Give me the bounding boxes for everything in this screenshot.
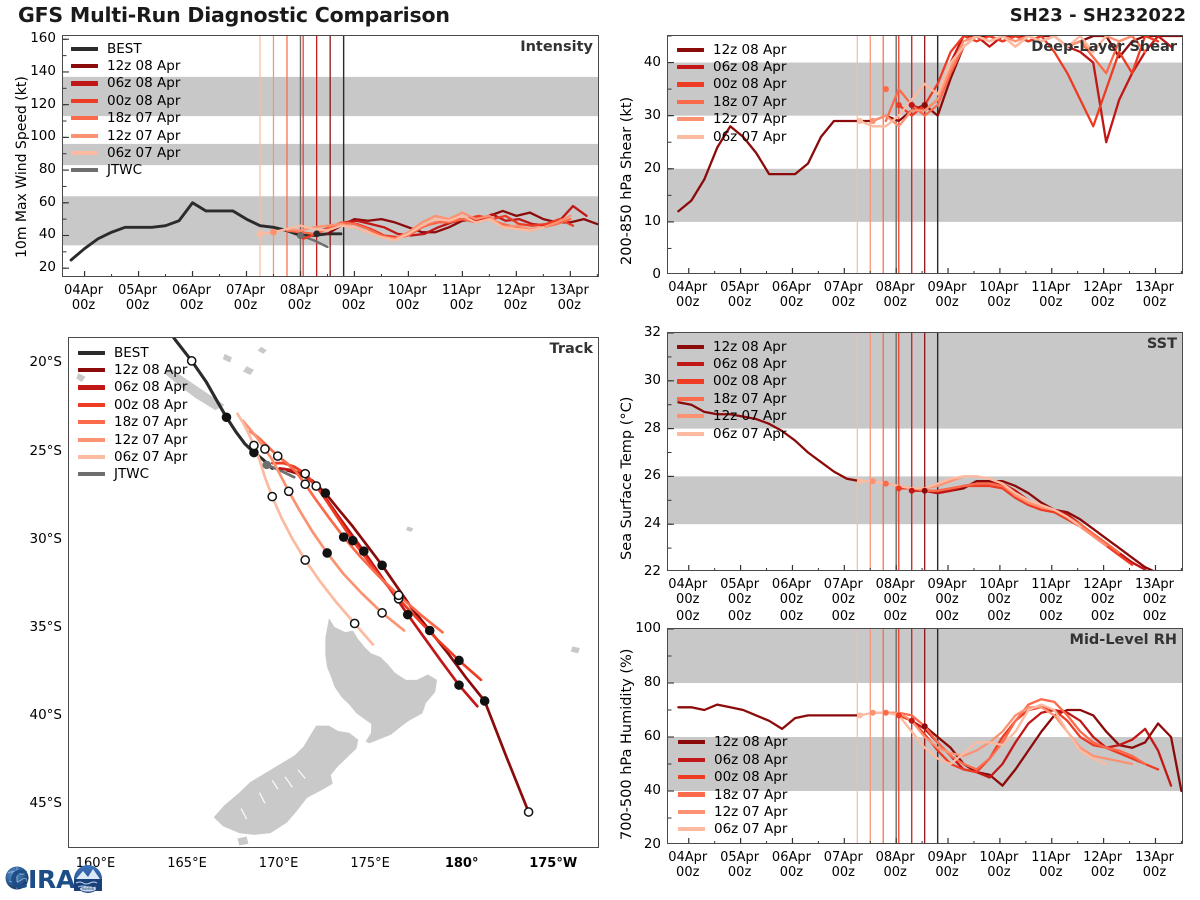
- legend-item[interactable]: 06z 07 Apr: [71, 144, 180, 161]
- legend-label: 00z 08 Apr: [107, 93, 180, 109]
- y-tick-label: 60: [621, 728, 661, 744]
- track-marker-open: [394, 591, 402, 599]
- legend-label: 06z 08 Apr: [107, 75, 180, 91]
- storm-id-title: SH23 - SH232022: [1010, 5, 1186, 26]
- track-marker-open: [351, 619, 359, 627]
- y-tick-label: 10: [621, 213, 661, 229]
- y-tick-label: 40: [621, 782, 661, 798]
- legend-label: 12z 08 Apr: [114, 362, 187, 378]
- legend-label: 12z 07 Apr: [713, 408, 786, 424]
- svg-text:A: A: [56, 865, 76, 894]
- y-tick-label: 20°S: [6, 354, 62, 370]
- data-point: [257, 230, 264, 237]
- legend-label: 06z 08 Apr: [714, 752, 787, 768]
- data-point: [883, 710, 889, 716]
- track-marker-open: [378, 609, 386, 617]
- x-tick-label-top: 00z: [1124, 609, 1184, 624]
- track-marker-filled: [403, 610, 412, 619]
- legend-swatch: [678, 827, 705, 831]
- track-marker-filled: [425, 626, 434, 635]
- x-tick-label: 13Apr00z: [1122, 850, 1186, 881]
- y-tick-label: 60: [16, 194, 56, 210]
- legend-label: BEST: [107, 41, 142, 57]
- y-tick-label: 35°S: [6, 619, 62, 635]
- legend-swatch: [677, 135, 704, 139]
- legend-swatch: [677, 65, 704, 69]
- legend-item[interactable]: 00z 08 Apr: [677, 373, 786, 390]
- legend-item[interactable]: 12z 08 Apr: [678, 734, 787, 751]
- y-tick-label: 140: [16, 63, 56, 79]
- y-tick-label: 100: [621, 620, 661, 636]
- legend-label: 12z 08 Apr: [107, 58, 180, 74]
- legend-swatch: [78, 438, 105, 442]
- legend-item[interactable]: 06z 08 Apr: [78, 379, 187, 396]
- track-marker-jtwc: [262, 461, 271, 470]
- svg-text:R: R: [37, 865, 56, 894]
- legend-label: 12z 08 Apr: [713, 339, 786, 355]
- legend-item[interactable]: BEST: [78, 344, 187, 361]
- y-tick-label: 28: [621, 420, 661, 436]
- legend-swatch: [677, 379, 704, 383]
- track-marker-open: [188, 357, 196, 365]
- legend-swatch: [677, 117, 704, 121]
- data-point: [313, 230, 320, 237]
- legend-label: 06z 08 Apr: [713, 356, 786, 372]
- legend-swatch: [677, 432, 704, 436]
- legend-swatch: [78, 403, 105, 407]
- panel-sst: SST 12z 08 Apr06z 08 Apr00z 08 Apr18z 07…: [667, 332, 1183, 571]
- legend-label: 18z 07 Apr: [713, 391, 786, 407]
- legend-swatch: [677, 48, 704, 52]
- data-point: [857, 712, 863, 718]
- y-tick-label: 30: [621, 372, 661, 388]
- intensity-legend: BEST12z 08 Apr06z 08 Apr00z 08 Apr18z 07…: [71, 40, 180, 179]
- legend-label: 12z 07 Apr: [714, 804, 787, 820]
- shear-panel-label: Deep-Layer Shear: [1031, 39, 1177, 55]
- track-marker-filled: [321, 489, 330, 498]
- legend-item[interactable]: 12z 07 Apr: [78, 431, 187, 448]
- panel-shear: Deep-Layer Shear 12z 08 Apr06z 08 Apr00z…: [667, 35, 1183, 274]
- legend-item[interactable]: 12z 08 Apr: [71, 57, 180, 74]
- track-marker-open: [301, 470, 309, 478]
- data-point: [896, 102, 902, 108]
- y-tick-label: 40: [16, 226, 56, 242]
- intensity-panel-label: Intensity: [520, 39, 593, 55]
- track-marker-open: [250, 441, 258, 449]
- y-tick-label: 80: [621, 674, 661, 690]
- track-marker-open: [285, 487, 293, 495]
- data-point: [922, 102, 928, 108]
- legend-swatch: [71, 81, 98, 85]
- legend-swatch: [71, 47, 98, 51]
- legend-label: 06z 07 Apr: [713, 426, 786, 442]
- landmass: [214, 726, 359, 835]
- legend-swatch: [78, 420, 105, 424]
- legend-label: 06z 08 Apr: [713, 59, 786, 75]
- track-marker-filled: [455, 681, 464, 690]
- legend-item[interactable]: 06z 08 Apr: [677, 58, 786, 75]
- track-legend: BEST12z 08 Apr06z 08 Apr00z 08 Apr18z 07…: [78, 344, 187, 483]
- data-point: [857, 118, 863, 124]
- legend-swatch: [677, 414, 704, 418]
- legend-item[interactable]: 12z 08 Apr: [677, 41, 786, 58]
- track-marker-open: [524, 808, 532, 816]
- y-tick-label: 25°S: [6, 443, 62, 459]
- landmass: [325, 618, 437, 743]
- legend-item[interactable]: BEST: [71, 40, 180, 57]
- y-tick-label: 40: [621, 54, 661, 70]
- y-tick-label: 20: [16, 259, 56, 275]
- y-tick-label: 80: [16, 161, 56, 177]
- legend-swatch: [677, 362, 704, 366]
- legend-item[interactable]: 06z 08 Apr: [71, 75, 180, 92]
- landmass: [237, 837, 248, 846]
- y-tick-label: 160: [16, 30, 56, 46]
- track-marker-filled: [349, 536, 358, 545]
- legend-swatch: [78, 472, 105, 476]
- y-tick-label: 20: [621, 160, 661, 176]
- cira-logo: C I R A RAMMB: [4, 858, 108, 898]
- data-point: [297, 232, 304, 239]
- x-tick-label: 13Apr00z: [537, 283, 601, 314]
- legend-item[interactable]: 00z 08 Apr: [678, 768, 787, 785]
- legend-item[interactable]: 12z 08 Apr: [677, 338, 786, 355]
- legend-item[interactable]: 12z 07 Apr: [678, 803, 787, 820]
- shaded-band: [63, 196, 599, 245]
- legend-label: JTWC: [107, 162, 142, 178]
- landmass: [223, 354, 232, 363]
- legend-label: 12z 07 Apr: [713, 111, 786, 127]
- sst-legend: 12z 08 Apr06z 08 Apr00z 08 Apr18z 07 Apr…: [677, 338, 786, 442]
- legend-label: 06z 07 Apr: [713, 129, 786, 145]
- sst-panel-label: SST: [1147, 336, 1177, 352]
- legend-item[interactable]: 12z 07 Apr: [677, 111, 786, 128]
- track-marker-filled: [480, 697, 489, 706]
- landmass: [258, 347, 267, 354]
- legend-label: 06z 07 Apr: [114, 449, 187, 465]
- legend-label: 12z 07 Apr: [107, 128, 180, 144]
- x-tick-label: 165°E: [151, 856, 223, 871]
- shaded-band: [668, 476, 1183, 524]
- y-tick-label: 120: [16, 96, 56, 112]
- data-point: [896, 712, 902, 718]
- track-marker-filled: [323, 549, 332, 558]
- legend-label: 00z 08 Apr: [114, 397, 187, 413]
- legend-item[interactable]: 12z 07 Apr: [677, 408, 786, 425]
- landmass: [406, 527, 413, 532]
- legend-swatch: [71, 168, 98, 172]
- track-marker-open: [301, 556, 309, 564]
- legend-label: 00z 08 Apr: [713, 76, 786, 92]
- legend-swatch: [78, 351, 105, 355]
- track-marker-open: [268, 492, 276, 500]
- track-marker-filled: [455, 656, 464, 665]
- legend-item[interactable]: 18z 07 Apr: [78, 414, 187, 431]
- svg-text:C: C: [10, 865, 28, 894]
- page-title: GFS Multi-Run Diagnostic Comparison: [18, 3, 450, 27]
- legend-item[interactable]: 06z 07 Apr: [677, 128, 786, 145]
- landmass: [243, 366, 254, 375]
- y-tick-label: 45°S: [6, 795, 62, 811]
- data-point: [922, 723, 928, 729]
- data-point: [896, 485, 902, 491]
- y-tick-label: 32: [621, 324, 661, 340]
- x-tick-label: 175°W: [517, 856, 589, 871]
- legend-label: 12z 08 Apr: [713, 42, 786, 58]
- track-marker-open: [274, 452, 282, 460]
- data-point: [883, 86, 889, 92]
- shear-legend: 12z 08 Apr06z 08 Apr00z 08 Apr18z 07 Apr…: [677, 41, 786, 145]
- track-marker-open: [312, 482, 320, 490]
- legend-item[interactable]: 18z 07 Apr: [71, 110, 180, 127]
- data-point: [870, 710, 876, 716]
- track-marker-filled: [222, 413, 231, 422]
- legend-swatch: [71, 116, 98, 120]
- y-tick-label: 30°S: [6, 531, 62, 547]
- legend-label: 06z 08 Apr: [114, 379, 187, 395]
- panel-track: Track BEST12z 08 Apr06z 08 Apr00z 08 Apr…: [68, 337, 599, 848]
- legend-item[interactable]: 06z 08 Apr: [677, 355, 786, 372]
- legend-swatch: [677, 345, 704, 349]
- legend-swatch: [678, 758, 705, 762]
- rh-panel-label: Mid-Level RH: [1070, 632, 1177, 648]
- legend-item[interactable]: 00z 08 Apr: [71, 92, 180, 109]
- legend-swatch: [71, 99, 98, 103]
- legend-item[interactable]: 12z 07 Apr: [71, 127, 180, 144]
- data-point: [870, 478, 876, 484]
- track-marker-filled: [339, 533, 348, 542]
- data-point: [870, 118, 876, 124]
- legend-label: 00z 08 Apr: [714, 769, 787, 785]
- legend-label: 12z 08 Apr: [714, 734, 787, 750]
- legend-swatch: [677, 397, 704, 401]
- data-point: [909, 488, 915, 494]
- x-tick-label: 175°E: [334, 856, 406, 871]
- legend-item[interactable]: JTWC: [71, 162, 180, 179]
- legend-label: 18z 07 Apr: [714, 787, 787, 803]
- legend-swatch: [677, 82, 704, 86]
- y-tick-label: 26: [621, 467, 661, 483]
- legend-item[interactable]: 06z 07 Apr: [678, 821, 787, 838]
- x-tick-label: 13Apr00z: [1122, 577, 1186, 608]
- y-tick-label: 40°S: [6, 707, 62, 723]
- legend-swatch: [78, 455, 105, 459]
- series-line: [678, 705, 860, 729]
- legend-label: 12z 07 Apr: [114, 432, 187, 448]
- data-point: [883, 481, 889, 487]
- legend-swatch: [677, 100, 704, 104]
- legend-item[interactable]: 18z 07 Apr: [677, 390, 786, 407]
- data-point: [857, 478, 863, 484]
- legend-swatch: [678, 740, 705, 744]
- track-marker-open: [301, 480, 309, 488]
- legend-label: 06z 07 Apr: [714, 821, 787, 837]
- svg-text:RAMMB: RAMMB: [82, 887, 94, 891]
- shaded-band: [668, 169, 1183, 222]
- legend-swatch: [71, 151, 98, 155]
- legend-label: 00z 08 Apr: [713, 373, 786, 389]
- y-tick-label: 24: [621, 515, 661, 531]
- landmass: [571, 646, 580, 653]
- legend-item[interactable]: 00z 08 Apr: [677, 76, 786, 93]
- y-tick-label: 100: [16, 128, 56, 144]
- legend-swatch: [71, 64, 98, 68]
- legend-item[interactable]: 18z 07 Apr: [677, 93, 786, 110]
- x-tick-label: 13Apr00z: [1122, 280, 1186, 311]
- legend-item[interactable]: 18z 07 Apr: [678, 786, 787, 803]
- track-marker-filled: [359, 547, 368, 556]
- data-point: [909, 718, 915, 724]
- legend-label: 18z 07 Apr: [713, 94, 786, 110]
- x-tick-label: 170°E: [243, 856, 315, 871]
- legend-item[interactable]: 06z 07 Apr: [677, 425, 786, 442]
- legend-item[interactable]: 12z 08 Apr: [78, 361, 187, 378]
- track-marker-filled: [378, 561, 387, 570]
- legend-swatch: [71, 134, 98, 138]
- rh-legend: 12z 08 Apr06z 08 Apr00z 08 Apr18z 07 Apr…: [678, 734, 787, 838]
- svg-text:I: I: [28, 865, 37, 894]
- legend-item[interactable]: 00z 08 Apr: [78, 396, 187, 413]
- x-tick-label: 180°: [426, 856, 498, 871]
- y-tick-label: 30: [621, 107, 661, 123]
- legend-swatch: [78, 368, 105, 372]
- data-point: [270, 229, 277, 236]
- legend-item[interactable]: JTWC: [78, 466, 187, 483]
- panel-rh: Mid-Level RH 12z 08 Apr06z 08 Apr00z 08 …: [667, 628, 1183, 844]
- panel-intensity: Intensity BEST12z 08 Apr06z 08 Apr00z 08…: [62, 35, 599, 277]
- legend-swatch: [678, 775, 705, 779]
- track-line: [272, 463, 481, 680]
- legend-item[interactable]: 06z 07 Apr: [78, 448, 187, 465]
- legend-label: JTWC: [114, 466, 149, 482]
- data-point: [909, 102, 915, 108]
- legend-label: 18z 07 Apr: [114, 414, 187, 430]
- track-marker-open: [261, 445, 269, 453]
- data-point: [922, 488, 928, 494]
- cira-wordmark: C I R A: [10, 865, 76, 894]
- legend-label: BEST: [114, 345, 149, 361]
- legend-swatch: [78, 385, 105, 389]
- legend-swatch: [678, 810, 705, 814]
- legend-label: 18z 07 Apr: [107, 110, 180, 126]
- legend-item[interactable]: 06z 08 Apr: [678, 751, 787, 768]
- legend-swatch: [678, 792, 705, 796]
- legend-label: 06z 07 Apr: [107, 145, 180, 161]
- track-panel-label: Track: [550, 341, 593, 357]
